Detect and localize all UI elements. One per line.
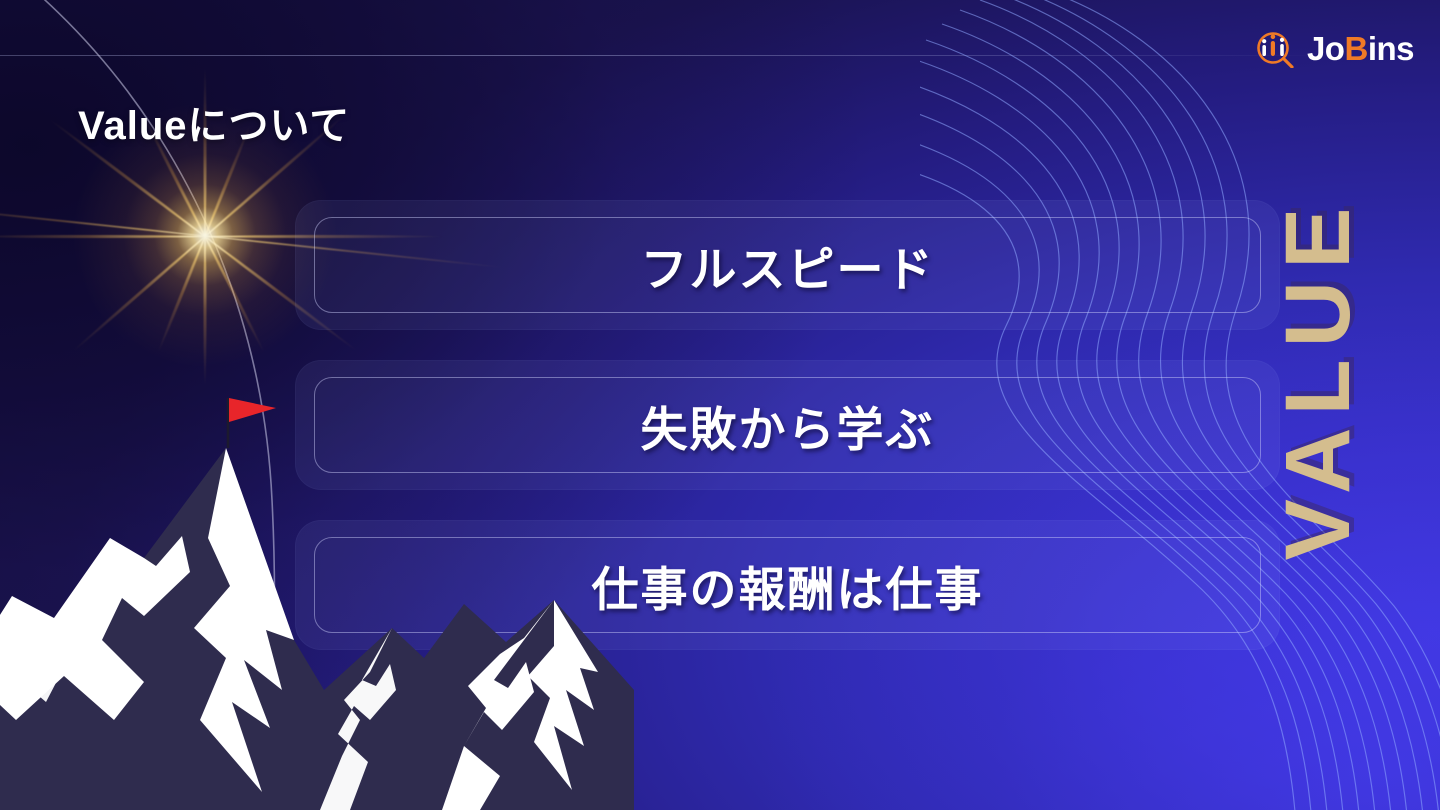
magnifier-chart-icon [1253,28,1299,68]
value-card[interactable]: フルスピード [295,200,1280,330]
value-card-frame: フルスピード [314,217,1261,313]
logo-wordmark: JoBins [1307,32,1414,65]
value-card-label: 仕事の報酬は仕事 [592,551,984,620]
side-wordmark-value: VALUE [1272,148,1364,608]
logo-text-highlight: B [1344,30,1367,67]
value-card-label: 失敗から学ぶ [641,391,935,460]
page-title: Valueについて [78,93,350,151]
logo-text-part1: Jo [1307,30,1345,67]
value-card[interactable]: 失敗から学ぶ [295,360,1280,490]
value-card-frame: 失敗から学ぶ [314,377,1261,473]
value-card-label: フルスピード [641,231,935,300]
logo-text-part2: ins [1368,30,1414,67]
header-hairline-divider [0,55,1440,56]
value-card-list: フルスピード 失敗から学ぶ 仕事の報酬は仕事 [295,200,1280,680]
slide-root: VALUE Valueについて JoBins フルスピード 失敗から学ぶ [0,0,1440,810]
jobins-logo[interactable]: JoBins [1253,26,1414,70]
value-card-frame: 仕事の報酬は仕事 [314,537,1261,633]
value-card[interactable]: 仕事の報酬は仕事 [295,520,1280,650]
